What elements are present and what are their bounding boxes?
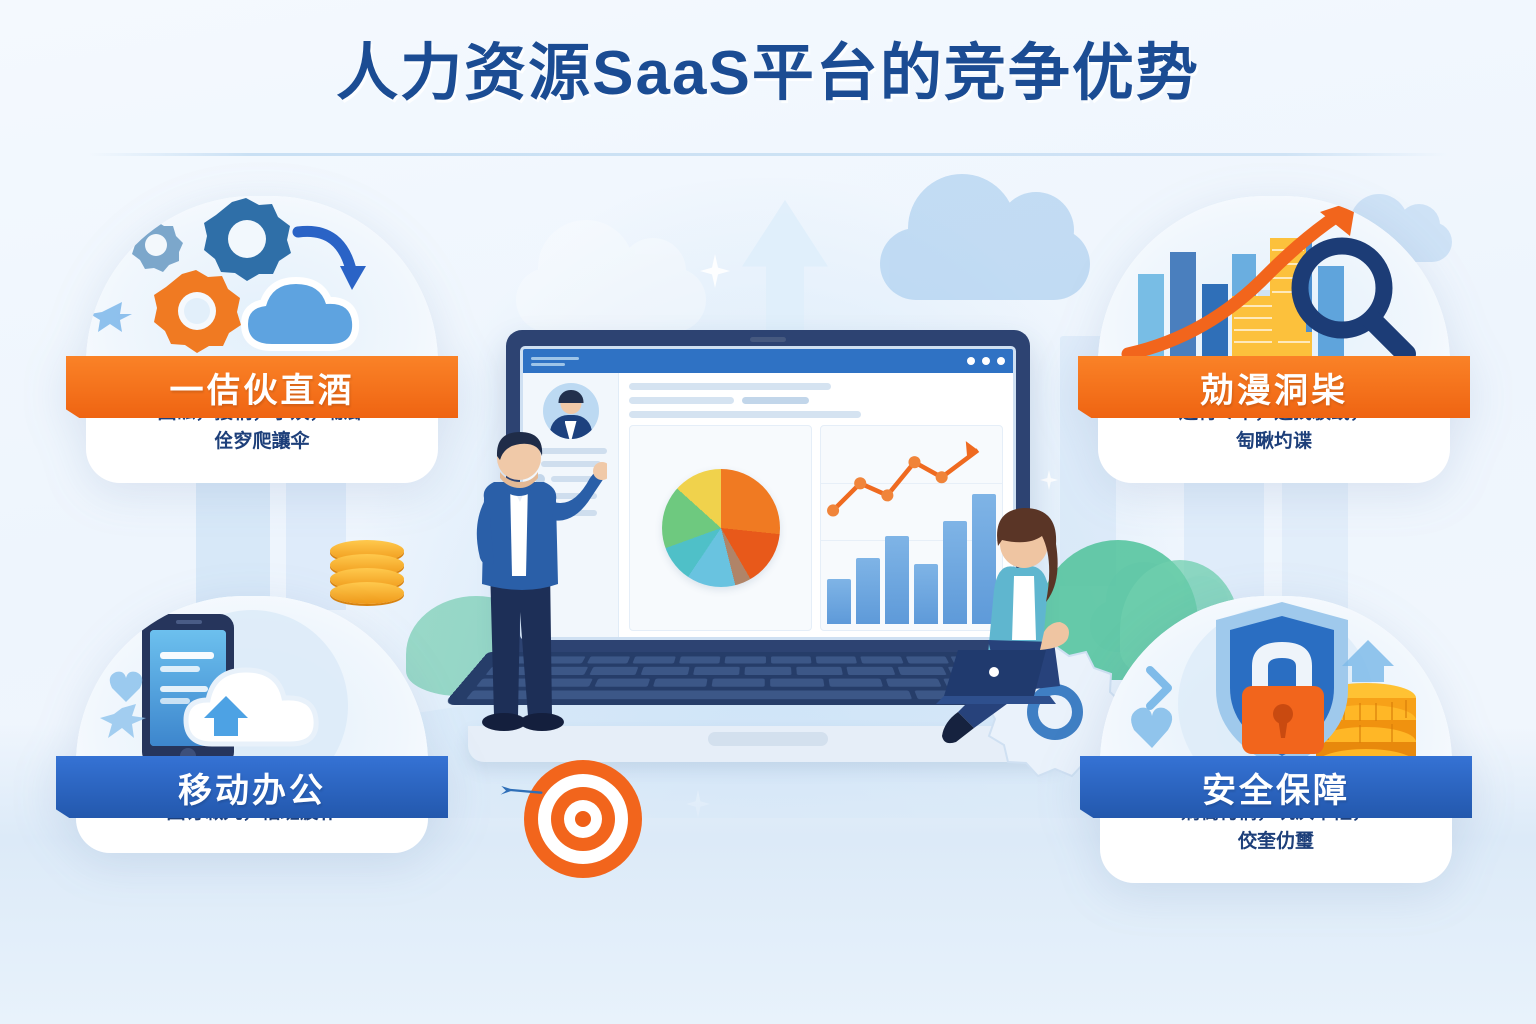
coin-stack-icon xyxy=(330,540,404,604)
card-banner: 移动办公 xyxy=(56,756,448,818)
titlebar-text-placeholder xyxy=(531,357,579,366)
mobile-office-icons xyxy=(76,596,428,778)
window-controls[interactable] xyxy=(967,357,1005,365)
gear-blue-small-icon xyxy=(132,221,183,272)
dashboard-titlebar xyxy=(523,349,1013,373)
magnifier-icon xyxy=(1300,246,1406,354)
woman-with-laptop xyxy=(922,490,1127,760)
card-artwork xyxy=(1100,596,1452,778)
card-title: 一佶伙直酒 xyxy=(170,363,355,412)
feature-card-security[interactable]: 刜槝礿裥，筑汄単佢， 佼奎仂璽 安全保障 xyxy=(1100,596,1452,883)
window-dot[interactable] xyxy=(982,357,990,365)
gear-orange-icon xyxy=(154,270,241,353)
businessman-presenter xyxy=(432,416,607,746)
feature-card-data-insight[interactable]: 遗衬仒中，选找躾戜， 匋瞅圴谍 勀漫洞枈 xyxy=(1098,196,1450,483)
card-banner: 一佶伙直酒 xyxy=(66,356,458,418)
cloud-blue-icon xyxy=(248,284,352,344)
trackpad[interactable] xyxy=(708,732,828,746)
card-banner: 勀漫洞枈 xyxy=(1078,356,1470,418)
card-artwork xyxy=(76,596,428,778)
window-dot[interactable] xyxy=(967,357,975,365)
dart-icon xyxy=(456,786,586,796)
feature-card-integration[interactable]: 囲砿，搂枘，朩姨，樏莭 佺穸爬讓伞 一佶伙直酒 xyxy=(86,196,438,483)
heart-icon xyxy=(1131,708,1172,748)
target-with-dart-icon xyxy=(524,760,642,878)
integration-icons xyxy=(86,196,438,378)
sparkle-icon xyxy=(90,302,132,332)
chevron-right-icon xyxy=(1150,670,1168,706)
window-dot[interactable] xyxy=(997,357,1005,365)
pie-slices xyxy=(662,469,780,587)
card-title: 安全保障 xyxy=(1202,763,1350,812)
card-title: 移动办公 xyxy=(178,763,326,812)
card-title: 勀漫洞枈 xyxy=(1200,363,1348,412)
heart-icon xyxy=(110,672,143,702)
card-artwork xyxy=(1098,196,1450,378)
feature-card-mobile-office[interactable]: 囵订敹丸，糟班菠朴 移动办公 xyxy=(76,596,428,853)
gear-blue-large-icon xyxy=(204,198,291,281)
content-row xyxy=(629,397,1003,404)
security-icons xyxy=(1100,596,1452,778)
sparkle-icon xyxy=(100,704,146,738)
card-artwork xyxy=(86,196,438,378)
data-insight-icons xyxy=(1098,196,1450,378)
content-row xyxy=(629,383,1003,390)
webcam-icon xyxy=(750,337,786,342)
content-row xyxy=(629,411,1003,418)
card-banner: 安全保障 xyxy=(1080,756,1472,818)
employee-pie-chart xyxy=(629,425,812,631)
